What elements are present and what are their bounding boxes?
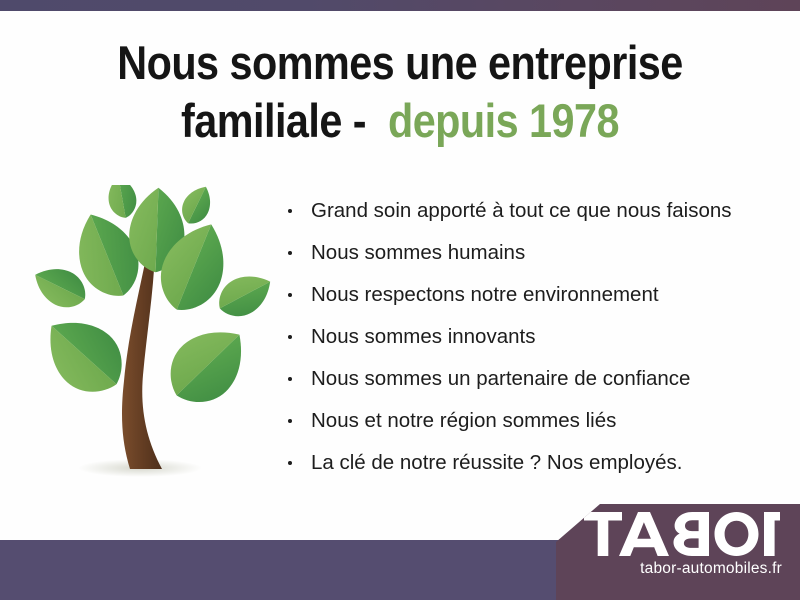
list-item-label: Grand soin apporté à tout ce que nous fa… [311, 199, 732, 222]
brand-website-url[interactable]: tabor-automobiles.fr [586, 560, 782, 578]
slide-canvas: Nous sommes une entreprise familiale - d… [0, 0, 800, 600]
bullet-dot-icon [288, 335, 292, 339]
list-item: Nous sommes un partenaire de confiance [286, 358, 786, 400]
tree-illustration [12, 185, 280, 485]
headline-line-1: Nous sommes une entreprise [48, 34, 752, 92]
bullet-dot-icon [288, 377, 292, 381]
tabor-wordmark-icon [584, 512, 780, 556]
list-item-label: Nous sommes innovants [311, 325, 535, 348]
tree-leaf [155, 312, 262, 418]
bullet-dot-icon [288, 209, 292, 213]
bullet-dot-icon [288, 251, 292, 255]
bullet-dot-icon [288, 461, 292, 465]
list-item: La clé de notre réussite ? Nos employés. [286, 442, 786, 484]
headline-line-2: familiale - depuis 1978 [48, 92, 752, 150]
list-item: Nous respectons notre environnement [286, 274, 786, 316]
list-item: Nous sommes humains [286, 232, 786, 274]
list-item: Nous et notre région sommes liés [286, 400, 786, 442]
top-accent-bar [0, 0, 800, 11]
list-item: Grand soin apporté à tout ce que nous fa… [286, 190, 786, 232]
tree-leaf [30, 302, 137, 407]
list-item-label: Nous respectons notre environnement [311, 283, 659, 306]
list-item-label: Nous sommes un partenaire de confiance [311, 367, 690, 390]
list-item-label: Nous sommes humains [311, 241, 525, 264]
value-bullet-list: Grand soin apporté à tout ce que nous fa… [286, 190, 786, 484]
headline-line-2-prefix: familiale - [181, 94, 366, 147]
list-item: Nous sommes innovants [286, 316, 786, 358]
bullet-dot-icon [288, 419, 292, 423]
bullet-dot-icon [288, 293, 292, 297]
tree-leaf [105, 185, 140, 220]
brand-logo-panel[interactable]: tabor-automobiles.fr [556, 504, 800, 600]
headline-accent-text: depuis 1978 [388, 94, 619, 147]
list-item-label: La clé de notre réussite ? Nos employés. [311, 451, 682, 474]
page-title: Nous sommes une entreprise familiale - d… [48, 34, 752, 150]
list-item-label: Nous et notre région sommes liés [311, 409, 616, 432]
